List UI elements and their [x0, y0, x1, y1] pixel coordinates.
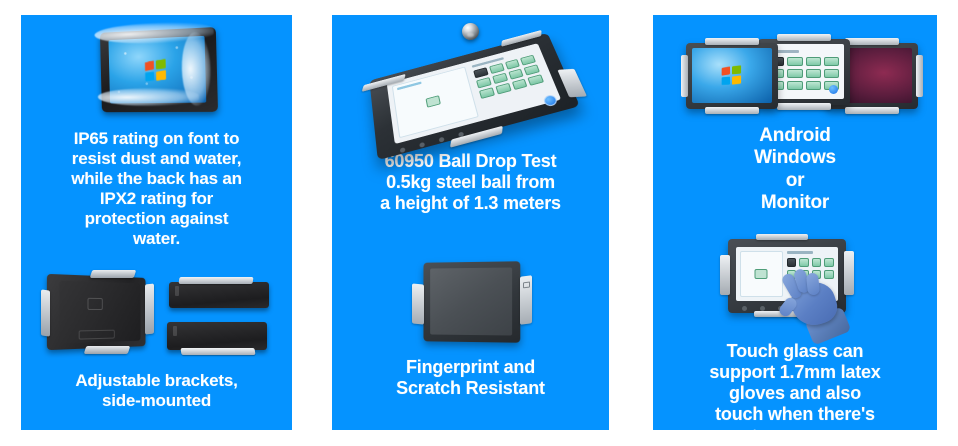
- panel-ball-drop-and-scratch: 60950 Ball Drop Test 0.5kg steel ball fr…: [332, 15, 609, 430]
- mount-rail: [777, 103, 831, 110]
- ball-drop-test-image: [332, 19, 609, 147]
- panel-pc-rear-graphic: [46, 274, 145, 350]
- monitor-frame: [423, 261, 520, 342]
- caption-line: Monitor: [659, 192, 931, 214]
- glove-finger: [806, 272, 820, 295]
- app-button-grid: [769, 57, 839, 90]
- pane-title: [396, 81, 421, 90]
- caption-line: gloves and also: [659, 383, 931, 404]
- mount-rail: [41, 290, 50, 337]
- pane-widget: [425, 95, 440, 108]
- caption-line: while the back has an: [27, 169, 286, 189]
- ball-drop-graphic: [366, 23, 576, 143]
- panel-ip-rating-and-brackets: IP65 rating on font to resist dust and w…: [21, 15, 292, 430]
- panel1-top-caption: IP65 rating on font to resist dust and w…: [21, 129, 292, 249]
- tablet-device-graphic: [99, 27, 217, 112]
- caption-line: resist dust and water,: [27, 149, 286, 169]
- panel3-bottom-caption: Touch glass can support 1.7mm latex glov…: [653, 341, 937, 430]
- windows-logo-icon: [722, 65, 744, 86]
- panel1-bottom-caption: Adjustable brackets, side-mounted: [21, 371, 292, 411]
- wet-windows-tablet-image: [21, 23, 292, 119]
- caption-line: or: [659, 170, 931, 192]
- mount-rail: [145, 284, 154, 335]
- grey-monitor-image: [332, 259, 609, 349]
- glove-touch-graphic: [720, 235, 870, 335]
- bracket-clip: [180, 348, 255, 355]
- mount-rail: [705, 38, 759, 45]
- app-left-pane: [740, 251, 783, 297]
- steel-ball-icon: [462, 23, 479, 40]
- mount-rail: [777, 34, 831, 41]
- caption-line: Adjustable brackets,: [27, 371, 286, 391]
- panel3-top-caption: Android Windows or Monitor: [653, 125, 937, 215]
- caption-line: Windows: [659, 147, 931, 169]
- mount-rail: [720, 255, 730, 295]
- mount-rail: [845, 107, 899, 114]
- bracket-notch: [175, 286, 179, 296]
- mount-rail: [681, 55, 688, 97]
- windows-screen: [692, 48, 772, 103]
- caption-line: IPX2 rating for: [27, 189, 286, 209]
- panel2-top-caption: 60950 Ball Drop Test 0.5kg steel ball fr…: [332, 151, 609, 215]
- bracket-clip: [178, 277, 253, 284]
- caption-line: protection against: [27, 209, 286, 229]
- monitor-graphic: [412, 262, 530, 346]
- caption-line: Scratch Resistant: [338, 378, 603, 399]
- mount-rail: [916, 55, 923, 97]
- gloved-touch-image: [653, 235, 937, 335]
- caption-line: IP65 rating on font to: [27, 129, 286, 149]
- mount-rail: [756, 234, 808, 240]
- panel2-bottom-caption: Fingerprint and Scratch Resistant: [332, 357, 609, 399]
- feature-panels-stage: IP65 rating on font to resist dust and w…: [0, 0, 958, 446]
- bracket-notch: [173, 326, 177, 336]
- mount-rail: [845, 38, 899, 45]
- panel-os-options-and-touch-glass: Android Windows or Monitor: [653, 15, 937, 430]
- brackets-graphic: [41, 268, 273, 354]
- gloved-hand-icon: [782, 271, 860, 337]
- mount-rail: [83, 346, 130, 354]
- home-button-icon: [829, 85, 838, 94]
- caption-line: Fingerprint and: [338, 357, 603, 378]
- monitor-screen: [430, 267, 512, 335]
- bracket-bottom: [167, 322, 267, 350]
- caption-line: touch when there's: [659, 404, 931, 425]
- bracket-top: [169, 282, 269, 308]
- pane-title: [787, 251, 813, 254]
- os-monitors-image: [653, 37, 937, 121]
- caption-line: water.: [27, 229, 286, 249]
- pane-widget: [755, 269, 768, 279]
- adjustable-brackets-image: [21, 263, 292, 359]
- mount-rail: [705, 107, 759, 114]
- caption-line: water on screen: [659, 426, 931, 430]
- mount-rail: [89, 270, 136, 278]
- mount-rail: [412, 283, 424, 324]
- caption-line: 0.5kg steel ball from: [338, 172, 603, 193]
- mount-rail: [520, 275, 532, 325]
- caption-line: Android: [659, 125, 931, 147]
- caption-line: support 1.7mm latex: [659, 362, 931, 383]
- vesa-mount: [87, 298, 102, 310]
- caption-line: Touch glass can: [659, 341, 931, 362]
- tilted-touch-panel-graphic: [369, 33, 580, 160]
- caption-line: side-mounted: [27, 391, 286, 411]
- os-monitors-graphic: [686, 37, 904, 121]
- windows-logo-icon: [144, 59, 168, 82]
- caption-line: a height of 1.3 meters: [338, 193, 603, 214]
- windows-monitor: [686, 43, 778, 109]
